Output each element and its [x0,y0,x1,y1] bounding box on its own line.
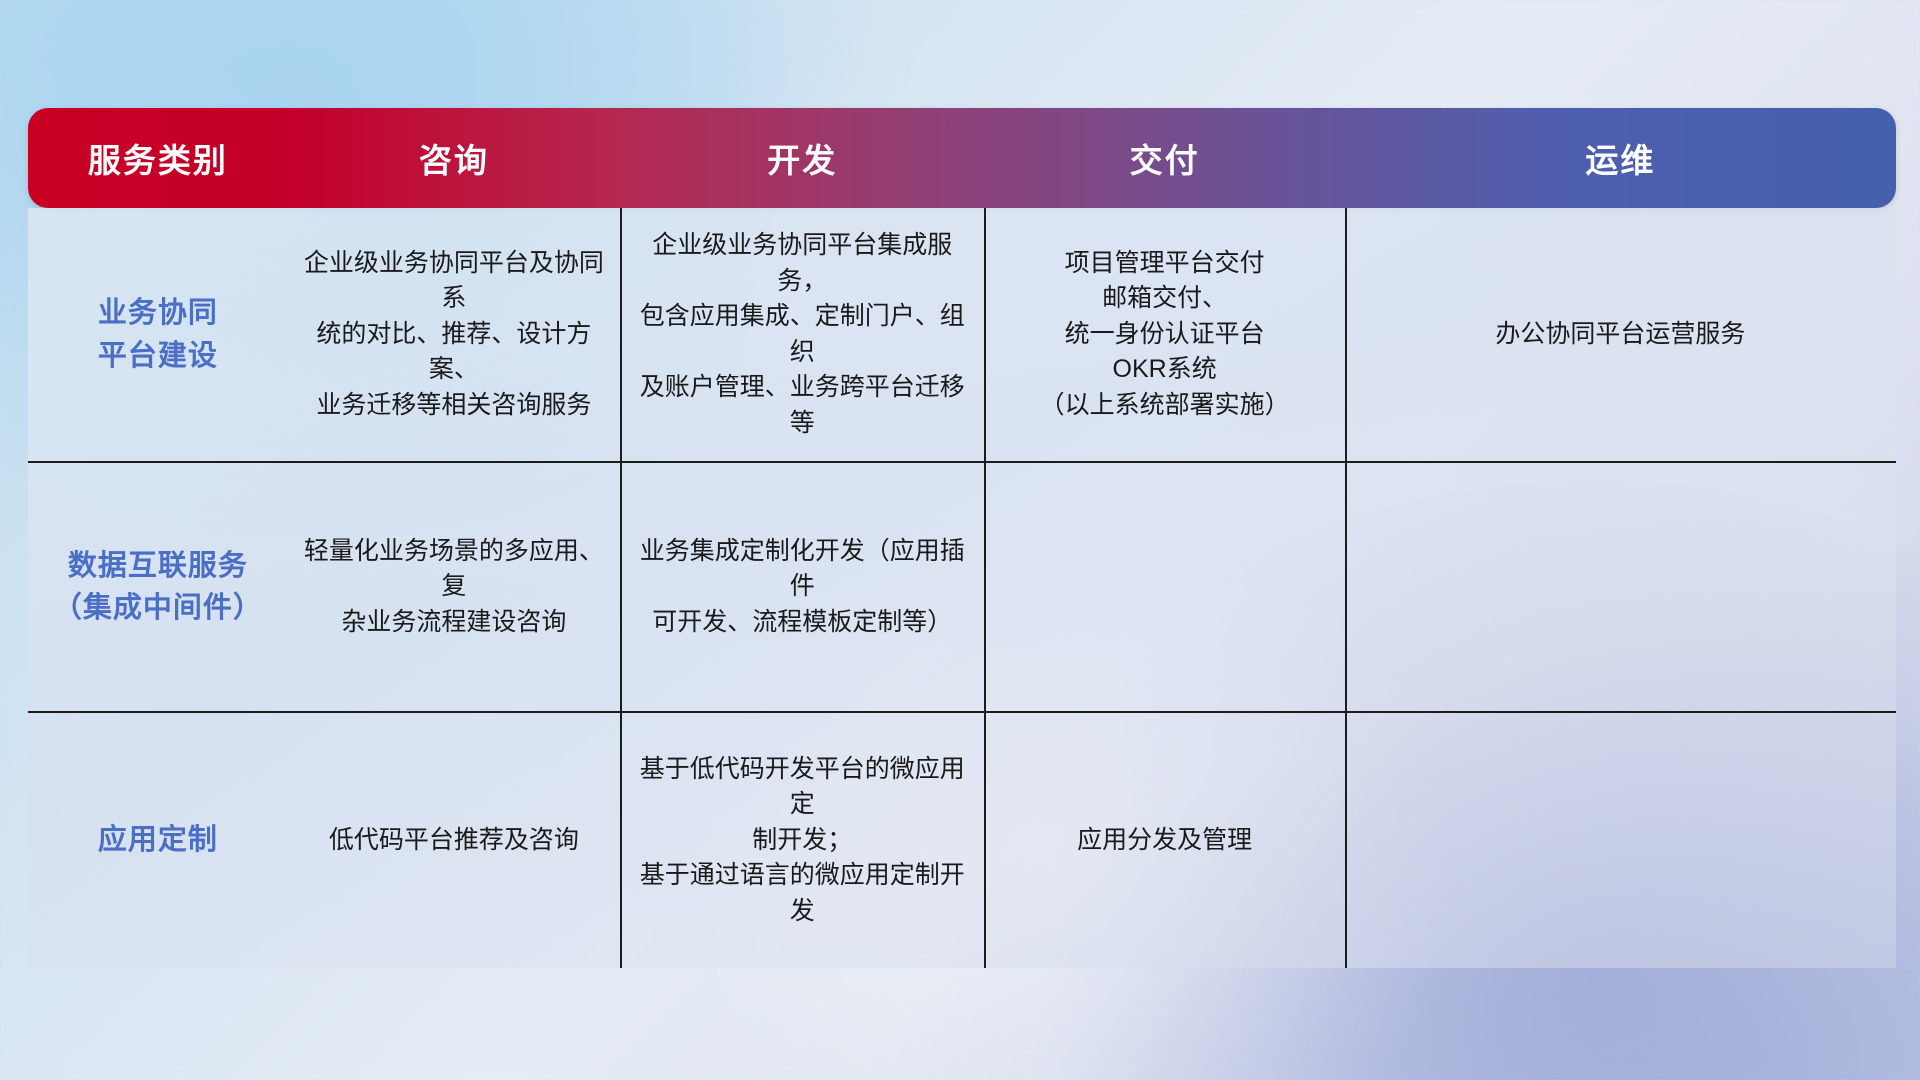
cell-development: 企业级业务协同平台集成服务， 包含应用集成、定制门户、组织 及账户管理、业务跨平… [620,208,984,461]
column-header-delivery: 交付 [984,134,1345,182]
cell-text: 应用分发及管理 [1077,823,1252,859]
cell-consulting: 低代码平台推荐及咨询 [288,713,621,968]
cell-text: 轻量化业务场景的多应用、复 杂业务流程建设咨询 [302,534,607,641]
row-category-label: 业务协同 平台建设 [98,292,218,376]
cell-text: 企业级业务协同平台集成服务， 包含应用集成、定制门户、组织 及账户管理、业务跨平… [634,228,970,441]
column-header-consulting: 咨询 [288,134,621,182]
row-category-cell: 数据互联服务 （集成中间件） [28,463,288,711]
row-category-label: 应用定制 [98,819,218,861]
cell-text: 办公协同平台运营服务 [1495,317,1745,353]
cell-text: 基于低代码开发平台的微应用定 制开发； 基于通过语言的微应用定制开发 [634,752,970,930]
cell-operations [1345,463,1896,711]
column-header-service-category: 服务类别 [28,134,288,182]
table-header-row: 服务类别 咨询 开发 交付 运维 [28,108,1896,208]
cell-consulting: 企业级业务协同平台及协同系 统的对比、推荐、设计方案、 业务迁移等相关咨询服务 [288,208,621,461]
service-matrix-table: 服务类别 咨询 开发 交付 运维 业务协同 平台建设 企业级业务协同平台及协同系… [28,108,1896,968]
cell-operations: 办公协同平台运营服务 [1345,208,1896,461]
cell-consulting: 轻量化业务场景的多应用、复 杂业务流程建设咨询 [288,463,621,711]
table-row: 数据互联服务 （集成中间件） 轻量化业务场景的多应用、复 杂业务流程建设咨询 业… [28,463,1896,713]
cell-text: 业务集成定制化开发（应用插件 可开发、流程模板定制等） [634,534,970,641]
cell-text: 低代码平台推荐及咨询 [329,823,579,859]
table-body: 业务协同 平台建设 企业级业务协同平台及协同系 统的对比、推荐、设计方案、 业务… [28,208,1896,968]
table-row: 业务协同 平台建设 企业级业务协同平台及协同系 统的对比、推荐、设计方案、 业务… [28,208,1896,463]
cell-development: 基于低代码开发平台的微应用定 制开发； 基于通过语言的微应用定制开发 [620,713,984,968]
column-header-development: 开发 [620,134,984,182]
column-header-operations: 运维 [1345,134,1896,182]
cell-delivery: 应用分发及管理 [984,713,1345,968]
cell-development: 业务集成定制化开发（应用插件 可开发、流程模板定制等） [620,463,984,711]
cell-text: 项目管理平台交付 邮箱交付、 统一身份认证平台 OKR系统 （以上系统部署实施） [1040,246,1290,424]
cell-text: 企业级业务协同平台及协同系 统的对比、推荐、设计方案、 业务迁移等相关咨询服务 [302,246,607,424]
row-category-label: 数据互联服务 （集成中间件） [53,545,263,629]
cell-operations [1345,713,1896,968]
cell-delivery: 项目管理平台交付 邮箱交付、 统一身份认证平台 OKR系统 （以上系统部署实施） [984,208,1345,461]
row-category-cell: 业务协同 平台建设 [28,208,288,461]
cell-delivery [984,463,1345,711]
table-row: 应用定制 低代码平台推荐及咨询 基于低代码开发平台的微应用定 制开发； 基于通过… [28,713,1896,968]
row-category-cell: 应用定制 [28,713,288,968]
